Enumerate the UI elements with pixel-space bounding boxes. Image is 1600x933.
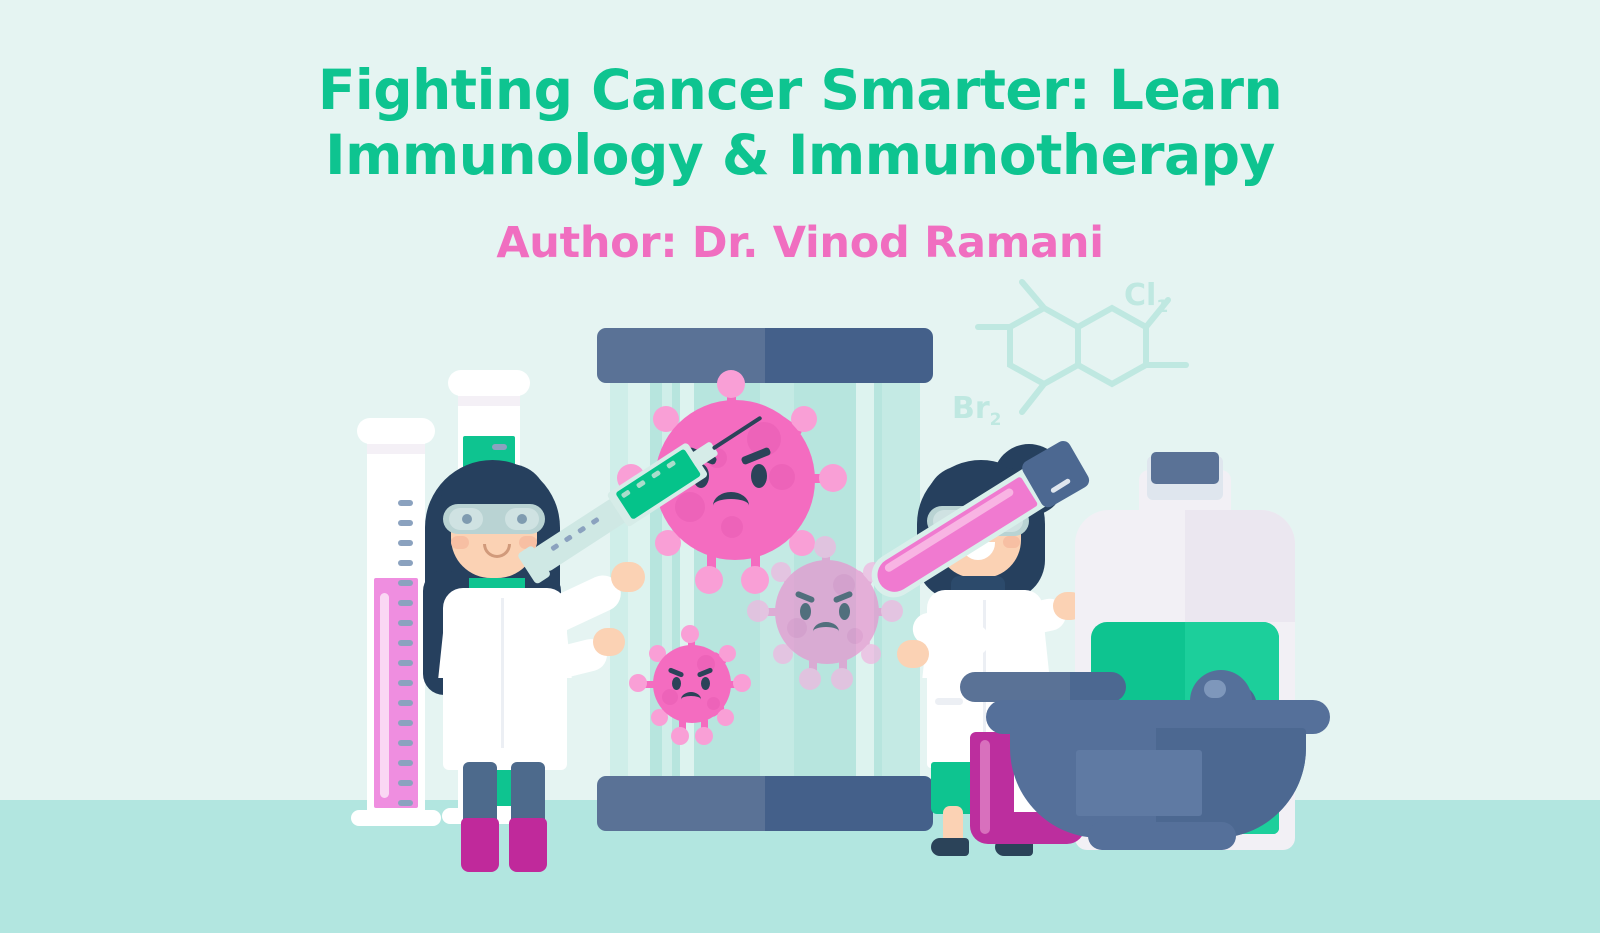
hand-lower (593, 628, 625, 656)
chem-label-chlorine: Cl1 (1124, 278, 1168, 317)
chemical-structure-diagram: Cl1 Br2 (930, 260, 1220, 445)
poster-canvas: Fighting Cancer Smarter: Learn Immunolog… (0, 0, 1600, 933)
coat-pocket-left (935, 698, 963, 705)
bottle-glass-shade (1185, 510, 1295, 622)
virus-cell-small (653, 645, 731, 723)
tank-cap-bottom (597, 776, 933, 831)
syringe-plunger-barrel (532, 497, 628, 573)
virus-cell-medium (775, 560, 879, 664)
page-title: Fighting Cancer Smarter: Learn Immunolog… (0, 58, 1600, 188)
coat-seam (501, 598, 504, 748)
eye-left (462, 514, 472, 524)
eye-right (517, 514, 527, 524)
mortar-inner-shade (1076, 750, 1202, 816)
boot-left (461, 818, 499, 872)
syringe (540, 455, 750, 605)
boot-right (509, 818, 547, 872)
mortar-and-pestle (960, 672, 1330, 847)
author-line: Author: Dr. Vinod Ramani (0, 218, 1600, 268)
tank-cap-top (597, 328, 933, 383)
cheek-left (451, 536, 469, 549)
bottle-cap (1151, 452, 1219, 484)
coat-lapel-left (438, 588, 495, 678)
pestle-highlight (1204, 680, 1226, 698)
chem-label-bromine: Br2 (952, 391, 1002, 430)
shelf-bar-left-shade (1070, 672, 1126, 702)
mortar-base (1088, 822, 1236, 850)
